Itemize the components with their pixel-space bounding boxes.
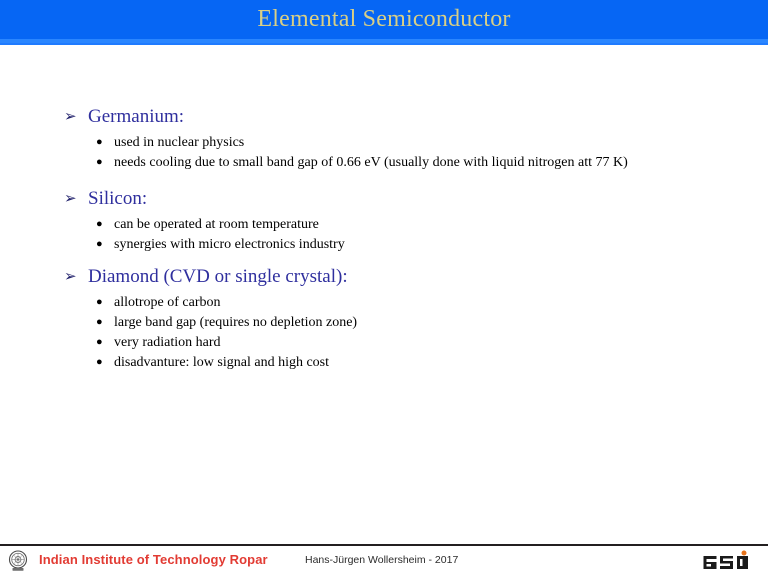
slide-content: ➢ Germanium: ● used in nuclear physics ●… bbox=[0, 45, 768, 535]
section-heading-germanium: ➢ Germanium: bbox=[64, 105, 754, 130]
dot-bullet-icon: ● bbox=[96, 353, 114, 372]
gsi-logo-icon bbox=[702, 550, 760, 572]
list-item-label: allotrope of carbon bbox=[114, 293, 221, 312]
list-item: ● large band gap (requires no depletion … bbox=[64, 313, 754, 333]
iit-ropar-logo-icon bbox=[6, 549, 30, 573]
section-heading-label: Germanium: bbox=[88, 105, 184, 129]
dot-bullet-icon: ● bbox=[96, 215, 114, 234]
list-item-label: large band gap (requires no depletion zo… bbox=[114, 313, 357, 332]
list-item: ● needs cooling due to small band gap of… bbox=[64, 153, 754, 173]
list-item: ● allotrope of carbon bbox=[64, 293, 754, 313]
list-item-label: disadvanture: low signal and high cost bbox=[114, 353, 329, 372]
list-item: ● synergies with micro electronics indus… bbox=[64, 235, 754, 255]
dot-bullet-icon: ● bbox=[96, 313, 114, 332]
slide-footer: Indian Institute of Technology Ropar Han… bbox=[0, 546, 768, 576]
list-item-label: can be operated at room temperature bbox=[114, 215, 319, 234]
list-item: ● used in nuclear physics bbox=[64, 133, 754, 153]
dot-bullet-icon: ● bbox=[96, 235, 114, 254]
dot-bullet-icon: ● bbox=[96, 333, 114, 352]
page-title: Elemental Semiconductor bbox=[0, 6, 768, 33]
section-diamond: ➢ Diamond (CVD or single crystal): ● all… bbox=[64, 265, 754, 373]
bullet-list-germanium: ● used in nuclear physics ● needs coolin… bbox=[64, 133, 754, 173]
arrow-bullet-icon: ➢ bbox=[64, 265, 88, 289]
section-heading-diamond: ➢ Diamond (CVD or single crystal): bbox=[64, 265, 754, 290]
dot-bullet-icon: ● bbox=[96, 293, 114, 312]
bullet-list-silicon: ● can be operated at room temperature ● … bbox=[64, 215, 754, 255]
list-item: ● disadvanture: low signal and high cost bbox=[64, 353, 754, 373]
list-item-label: used in nuclear physics bbox=[114, 133, 244, 152]
dot-bullet-icon: ● bbox=[96, 133, 114, 152]
list-item-label: needs cooling due to small band gap of 0… bbox=[114, 153, 628, 172]
section-heading-silicon: ➢ Silicon: bbox=[64, 187, 754, 212]
author-and-year: Hans-Jürgen Wollersheim - 2017 bbox=[305, 554, 458, 566]
slide-title-banner: Elemental Semiconductor bbox=[0, 0, 768, 45]
list-item-label: very radiation hard bbox=[114, 333, 221, 352]
section-heading-label: Diamond (CVD or single crystal): bbox=[88, 265, 348, 289]
list-item-label: synergies with micro electronics industr… bbox=[114, 235, 345, 254]
institution-name: Indian Institute of Technology Ropar bbox=[39, 552, 268, 567]
banner-accent-strip bbox=[0, 39, 768, 43]
arrow-bullet-icon: ➢ bbox=[64, 105, 88, 129]
bullet-list-diamond: ● allotrope of carbon ● large band gap (… bbox=[64, 293, 754, 373]
dot-bullet-icon: ● bbox=[96, 153, 114, 172]
section-germanium: ➢ Germanium: ● used in nuclear physics ●… bbox=[64, 105, 754, 173]
section-silicon: ➢ Silicon: ● can be operated at room tem… bbox=[64, 187, 754, 255]
arrow-bullet-icon: ➢ bbox=[64, 187, 88, 211]
list-item: ● very radiation hard bbox=[64, 333, 754, 353]
list-item: ● can be operated at room temperature bbox=[64, 215, 754, 235]
section-heading-label: Silicon: bbox=[88, 187, 147, 211]
